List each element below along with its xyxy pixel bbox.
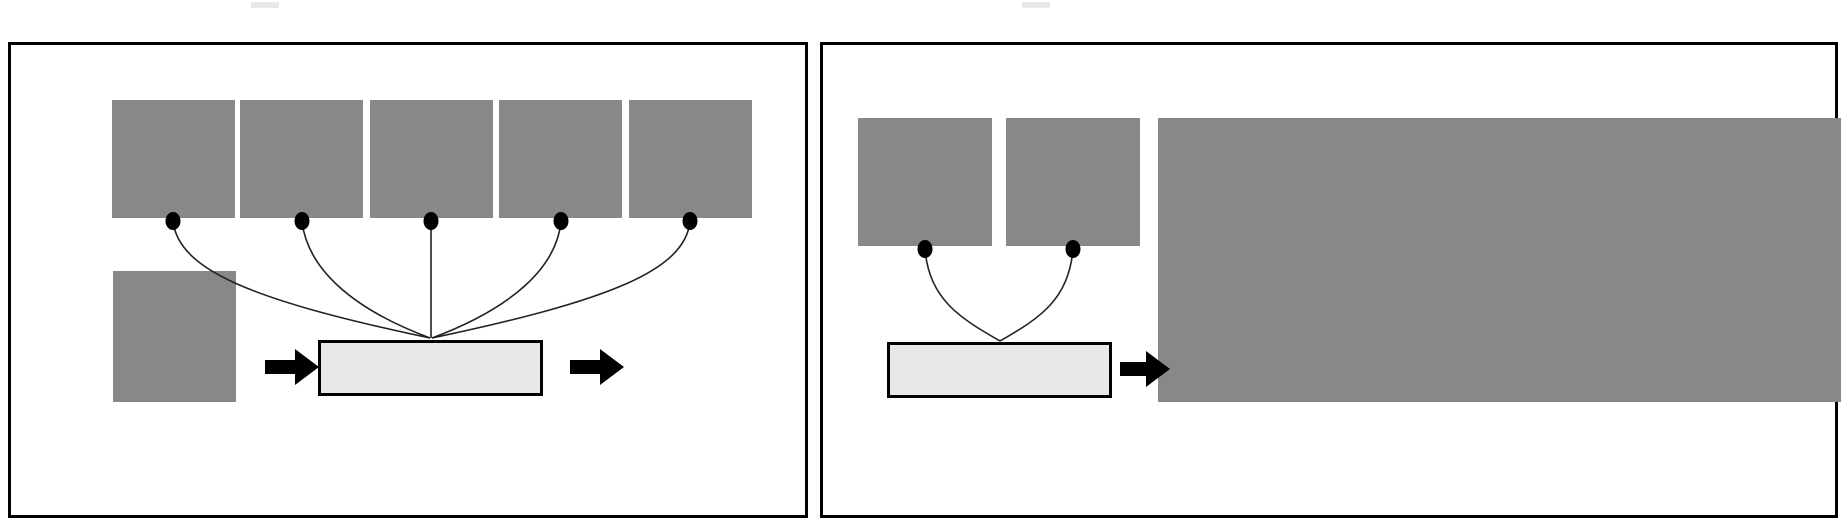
prediction-row-1 (672, 300, 719, 330)
prediction-swatch-2 (672, 338, 705, 368)
class-swatch-2 (418, 58, 450, 92)
support-image-0 (112, 100, 235, 218)
detection-query-image (1158, 118, 1841, 402)
support-image-2 (370, 100, 493, 218)
prediction-swatch-1 (672, 300, 705, 330)
prediction-swatch-0 (672, 262, 705, 292)
query-image-left (113, 271, 236, 402)
class-swatch-4 (684, 58, 716, 92)
prediction-row-0 (672, 262, 719, 292)
classifier-box (318, 340, 543, 396)
support-image-1 (240, 100, 363, 218)
class-swatch-1 (278, 58, 310, 92)
prediction-swatch-4 (672, 414, 705, 444)
detection-support-image-1 (1006, 118, 1140, 246)
support-image-4 (629, 100, 752, 218)
prediction-row-3 (672, 376, 719, 406)
panel-title-detection (1022, 2, 1050, 8)
prediction-swatch-3 (672, 376, 705, 406)
class-swatch-0 (158, 58, 190, 92)
detection-support-image-0 (858, 118, 992, 246)
prediction-row-2 (672, 338, 719, 368)
detector-box (887, 342, 1112, 398)
support-image-3 (499, 100, 622, 218)
prediction-row-4 (672, 414, 719, 444)
panel-title-classification (251, 2, 279, 8)
class-swatch-3 (543, 58, 575, 92)
figure-root (0, 0, 1845, 524)
